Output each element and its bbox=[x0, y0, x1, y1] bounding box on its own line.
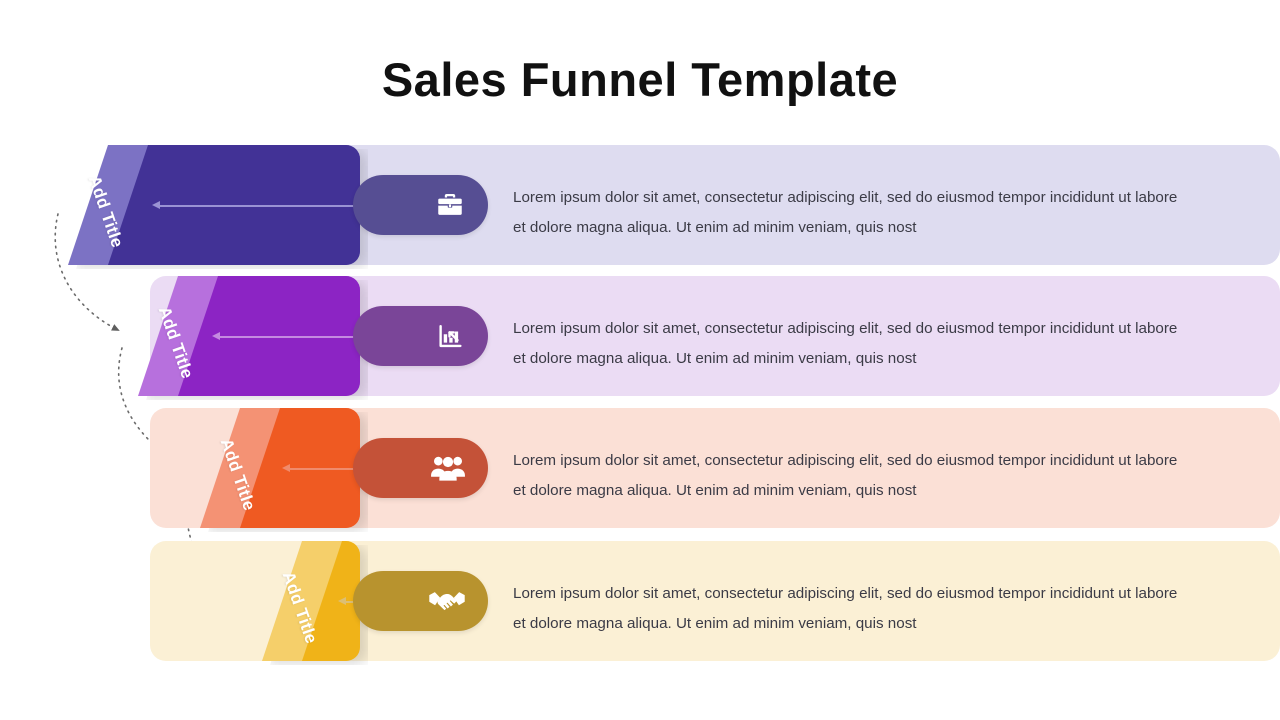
stage-icon-pill[interactable] bbox=[353, 306, 488, 366]
funnel-stage-row[interactable]: Add Title Lorem ipsum dolor sit amet, co… bbox=[0, 276, 1280, 396]
stage-body-text: Lorem ipsum dolor sit amet, consectetur … bbox=[513, 183, 1178, 243]
people-group-icon bbox=[430, 454, 466, 482]
stage-icon-pill[interactable] bbox=[353, 438, 488, 498]
stage-arrow-head bbox=[282, 464, 290, 472]
stage-arrow-head bbox=[338, 597, 346, 605]
slide-canvas: Sales Funnel Template Add Title bbox=[0, 0, 1280, 720]
stage-body-text: Lorem ipsum dolor sit amet, consectetur … bbox=[513, 314, 1178, 374]
stage-body-text: Lorem ipsum dolor sit amet, consectetur … bbox=[513, 446, 1178, 506]
briefcase-icon bbox=[434, 190, 466, 220]
funnel-stage-row[interactable]: Add Title Lorem ipsum dolor sit amet, co… bbox=[0, 541, 1280, 661]
funnel-stage-row[interactable]: Add Title Lorem ipsum dolor sit amet, co… bbox=[0, 145, 1280, 265]
stage-arrow-head bbox=[212, 332, 220, 340]
stage-body-text: Lorem ipsum dolor sit amet, consectetur … bbox=[513, 579, 1178, 639]
stage-arrow-line bbox=[158, 205, 358, 207]
stage-icon-pill[interactable] bbox=[353, 175, 488, 235]
stage-arrow-head bbox=[152, 201, 160, 209]
page-title: Sales Funnel Template bbox=[0, 52, 1280, 107]
bar-chart-growth-icon bbox=[435, 321, 466, 351]
stage-arrow-line bbox=[218, 336, 358, 338]
stage-icon-pill[interactable] bbox=[353, 571, 488, 631]
funnel-stage-row[interactable]: Add Title Lorem ipsum dolor sit amet, co… bbox=[0, 408, 1280, 528]
handshake-icon bbox=[428, 587, 466, 615]
